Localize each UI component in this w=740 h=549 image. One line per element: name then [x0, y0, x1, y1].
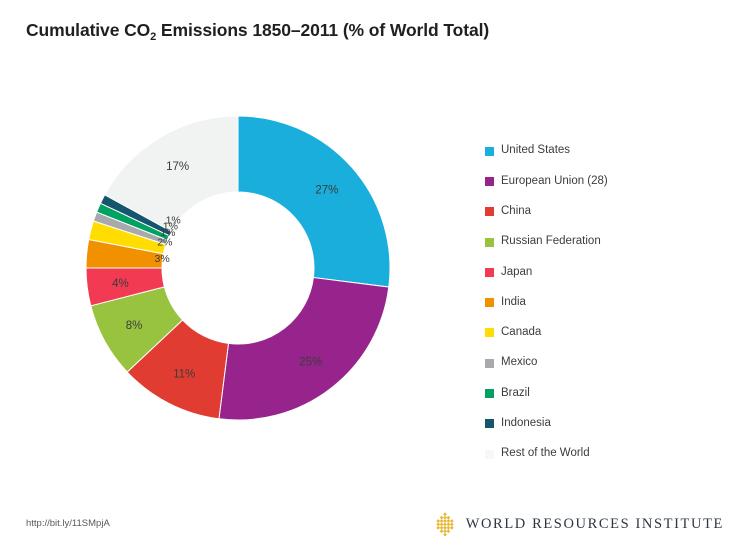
wri-lattice-cell	[443, 512, 447, 516]
wri-lattice-cell	[443, 522, 447, 526]
wri-lattice-cell	[439, 516, 443, 520]
legend-item[interactable]: Rest of the World	[485, 439, 705, 469]
legend-swatch-icon	[485, 177, 494, 186]
legend-swatch-icon	[485, 298, 494, 307]
legend-swatch-icon	[485, 450, 494, 459]
donut-slice-label: 3%	[155, 253, 170, 265]
wri-lattice-cell	[443, 529, 447, 533]
wri-lattice-cell	[439, 522, 443, 526]
legend-item-label: Canada	[501, 327, 541, 339]
page-title-subscript: 2	[150, 31, 156, 43]
legend-item-label: Russian Federation	[501, 236, 601, 248]
wri-lattice-cell	[439, 519, 443, 523]
legend-swatch-icon	[485, 147, 494, 156]
legend-item[interactable]: Brazil	[485, 378, 705, 408]
legend-item-label: Rest of the World	[501, 448, 590, 460]
legend-item[interactable]: Japan	[485, 257, 705, 287]
donut-slice-label: 11%	[173, 369, 195, 381]
page-title-before: Cumulative CO	[26, 20, 150, 40]
legend-item-label: India	[501, 297, 526, 309]
wri-lattice-icon	[433, 512, 457, 536]
wri-wordmark: WORLD RESOURCES INSTITUTE	[466, 516, 724, 533]
wri-lattice-cell	[450, 522, 454, 526]
legend-item[interactable]: Mexico	[485, 348, 705, 378]
chart-legend: United StatesEuropean Union (28)ChinaRus…	[485, 136, 705, 469]
legend-item[interactable]: China	[485, 197, 705, 227]
donut-chart-svg: 27%25%11%8%4%3%2%1%1%1%17%	[82, 112, 394, 424]
page-title: Cumulative CO2 Emissions 1850–2011 (% of…	[26, 20, 489, 41]
legend-item-label: Mexico	[501, 357, 537, 369]
wri-lattice-cell	[446, 526, 450, 530]
wri-lattice-cell	[446, 529, 450, 533]
legend-item-label: United States	[501, 145, 570, 157]
page-title-after: Emissions 1850–2011 (% of World Total)	[156, 20, 489, 40]
wri-lattice-cell	[446, 522, 450, 526]
wri-lattice-cell	[439, 526, 443, 530]
legend-item[interactable]: United States	[485, 136, 705, 166]
donut-slice-label: 4%	[112, 278, 129, 290]
legend-item-label: Japan	[501, 267, 532, 279]
donut-slice-label: 8%	[126, 320, 143, 332]
wri-lattice-cell	[446, 516, 450, 520]
legend-swatch-icon	[485, 238, 494, 247]
legend-swatch-icon	[485, 268, 494, 277]
wri-lattice-cell	[443, 526, 447, 530]
wri-lattice-cell	[436, 526, 440, 530]
wri-lattice-cell	[450, 519, 454, 523]
wri-lattice-cell	[443, 533, 447, 536]
donut-slice-group	[86, 116, 390, 420]
donut-slice-label: 17%	[166, 161, 189, 173]
legend-item[interactable]: Russian Federation	[485, 227, 705, 257]
legend-item-label: China	[501, 206, 531, 218]
legend-swatch-icon	[485, 359, 494, 368]
legend-item-label: Brazil	[501, 388, 530, 400]
legend-swatch-icon	[485, 419, 494, 428]
donut-slice[interactable]	[219, 278, 389, 420]
wri-lattice-cell	[436, 519, 440, 523]
donut-slice[interactable]	[238, 116, 390, 287]
wri-lattice-cell	[450, 526, 454, 530]
wri-lattice-cell	[443, 519, 447, 523]
wri-lattice-cell	[439, 529, 443, 533]
donut-slice-label: 27%	[315, 185, 338, 197]
wri-logo: WORLD RESOURCES INSTITUTE	[433, 512, 724, 536]
wri-lattice-cell	[446, 519, 450, 523]
source-url[interactable]: http://bit.ly/11SMpjA	[26, 518, 110, 529]
donut-chart: 27%25%11%8%4%3%2%1%1%1%17%	[82, 112, 394, 424]
wri-lattice-cell	[436, 522, 440, 526]
legend-item-label: European Union (28)	[501, 176, 608, 188]
legend-swatch-icon	[485, 207, 494, 216]
donut-slice-label: 25%	[299, 357, 322, 369]
legend-item[interactable]: India	[485, 287, 705, 317]
legend-item[interactable]: Canada	[485, 318, 705, 348]
donut-slice-label: 1%	[166, 215, 181, 227]
legend-item[interactable]: European Union (28)	[485, 166, 705, 196]
legend-swatch-icon	[485, 328, 494, 337]
legend-item-label: Indonesia	[501, 418, 551, 430]
wri-lattice-cell	[443, 516, 447, 520]
legend-swatch-icon	[485, 389, 494, 398]
legend-item[interactable]: Indonesia	[485, 409, 705, 439]
